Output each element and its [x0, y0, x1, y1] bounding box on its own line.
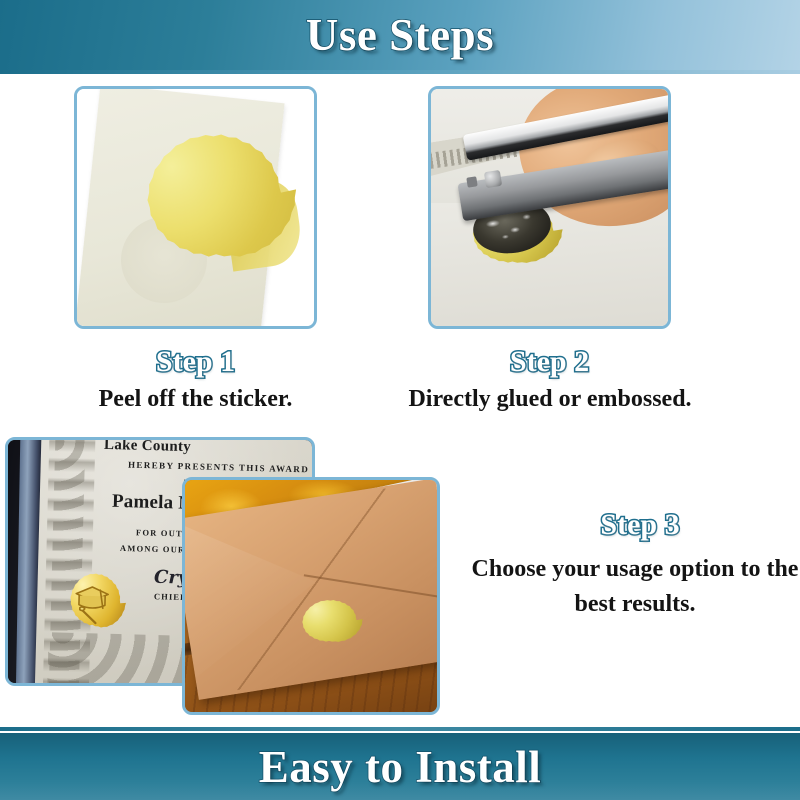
top-banner: Use Steps [0, 0, 800, 70]
bottom-banner-divider [0, 727, 800, 731]
step3-caption: Choose your usage option to the best res… [470, 552, 800, 622]
certificate-organization: Lake County [104, 440, 191, 456]
step2-photo-frame [428, 86, 671, 329]
step2-caption: Directly glued or embossed. [400, 386, 700, 413]
step3-label: Step 3 [490, 508, 790, 542]
embosser-pivot-screw-small [466, 176, 477, 187]
top-banner-divider [0, 70, 800, 74]
envelope-photo [185, 480, 437, 712]
bottom-banner: Easy to Install [0, 733, 800, 800]
footer-title: Easy to Install [259, 741, 542, 793]
step1-caption: Peel off the sticker. [22, 386, 369, 413]
page-title: Use Steps [306, 9, 494, 61]
step1-label: Step 1 [74, 345, 317, 379]
step1-photo [77, 89, 314, 326]
envelope-photo-frame [182, 477, 440, 715]
step2-label: Step 2 [428, 345, 671, 379]
step2-photo [431, 89, 668, 326]
step1-photo-frame [74, 86, 317, 329]
graduation-cap-emblem-icon [69, 575, 114, 628]
embosser-pivot-screw [484, 170, 502, 188]
